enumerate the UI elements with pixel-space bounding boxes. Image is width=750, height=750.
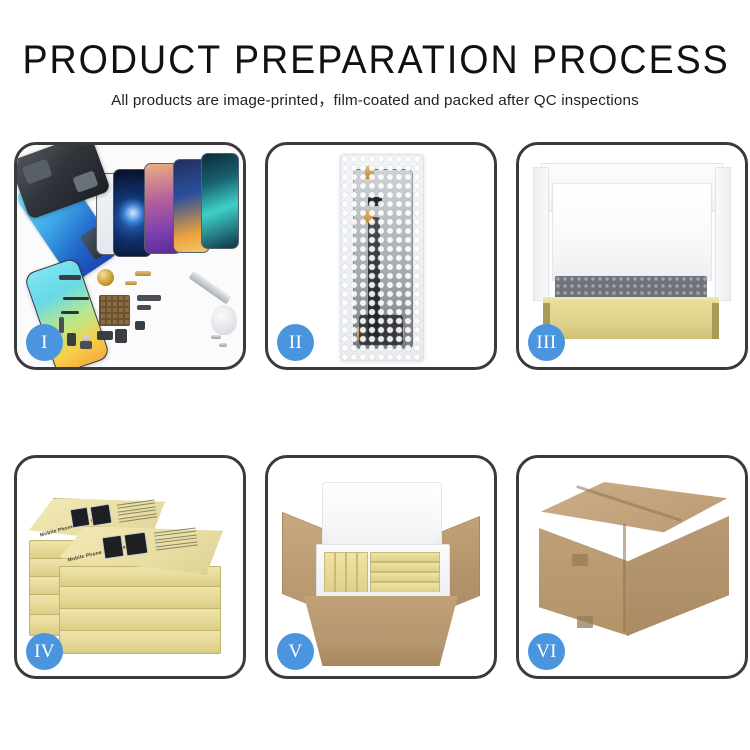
panel-badge-vi: VI — [528, 633, 565, 670]
styrofoam-lid — [322, 482, 442, 552]
carton-corner-seam — [623, 524, 626, 632]
panel-vi-sealed-carton[interactable]: VI — [516, 455, 748, 679]
panel-iii-foam-box[interactable]: III — [516, 142, 748, 370]
spare-part-camera — [67, 333, 76, 346]
inner-box-5 — [370, 552, 440, 562]
process-panel-grid: I II — [0, 0, 750, 750]
inner-box-4 — [357, 552, 368, 592]
sealed-carton-front-right — [627, 516, 729, 636]
screw-part-2 — [219, 343, 227, 347]
yellow-box-front — [543, 303, 719, 339]
spare-part-sensor — [135, 321, 145, 330]
inner-box-7 — [370, 572, 440, 582]
box-art-phone-1 — [70, 507, 91, 529]
panel-iv-stacked-boxes[interactable]: Mobile Phone Spare Parts Mobile Phone Sp… — [14, 455, 246, 679]
box-lid-left — [533, 167, 549, 301]
spare-part-connector — [80, 341, 92, 349]
panel-badge-v: V — [277, 633, 314, 670]
carton-tape-tab-upper — [572, 554, 588, 566]
screw-part-1 — [211, 335, 221, 339]
spare-part-gold-2 — [125, 281, 137, 285]
box-stack: Mobile Phone Spare Parts Mobile Phone Sp… — [23, 474, 239, 664]
product-preparation-page: PRODUCT PREPARATION PROCESS All products… — [0, 0, 750, 750]
stack-slab-r2 — [59, 586, 221, 610]
box-lid-right — [715, 167, 731, 301]
gold-vibration-motor — [97, 269, 114, 286]
box-art-phone-4 — [124, 532, 149, 557]
inner-box-2 — [335, 552, 346, 592]
panel-badge-iii: III — [528, 324, 565, 361]
tool-handle — [211, 305, 237, 335]
carton-front-wall — [304, 596, 458, 666]
carton-tape-tab-lower — [577, 616, 593, 628]
phone-display-teal — [201, 153, 239, 249]
white-foam-sheet — [552, 183, 712, 281]
inner-box-8 — [370, 582, 440, 592]
stack-slab-r4 — [59, 630, 221, 654]
box-art-phone-3 — [102, 535, 125, 560]
flex-cable-2 — [61, 311, 79, 314]
panel-badge-i: I — [26, 324, 63, 361]
spare-part-strip-2 — [59, 317, 64, 333]
panel-i-phone-parts[interactable]: I — [14, 142, 246, 370]
stack-slab-r3 — [59, 608, 221, 632]
bubble-texture — [341, 155, 423, 360]
logic-board-chip — [99, 295, 130, 326]
spare-part-button — [115, 329, 127, 343]
inner-box-6 — [370, 562, 440, 572]
panel-badge-ii: II — [277, 324, 314, 361]
flex-cable-1 — [63, 297, 89, 300]
spare-part-strip-4 — [137, 305, 151, 310]
panel-v-styrofoam-carton[interactable]: V — [265, 455, 497, 679]
box-art-phone-2 — [90, 504, 113, 527]
spare-part-strip-3 — [137, 295, 161, 301]
inner-box-1 — [324, 552, 335, 592]
spare-part-gold-1 — [135, 271, 151, 276]
inner-yellow-boxes — [324, 550, 440, 592]
spare-part-speaker — [97, 331, 113, 340]
inner-box-3 — [346, 552, 357, 592]
spare-part-strip-1 — [59, 275, 81, 280]
panel-ii-bubble-wrap[interactable]: II — [265, 142, 497, 370]
bubble-wrap-bag — [340, 154, 424, 361]
panel-badge-iv: IV — [26, 633, 63, 670]
